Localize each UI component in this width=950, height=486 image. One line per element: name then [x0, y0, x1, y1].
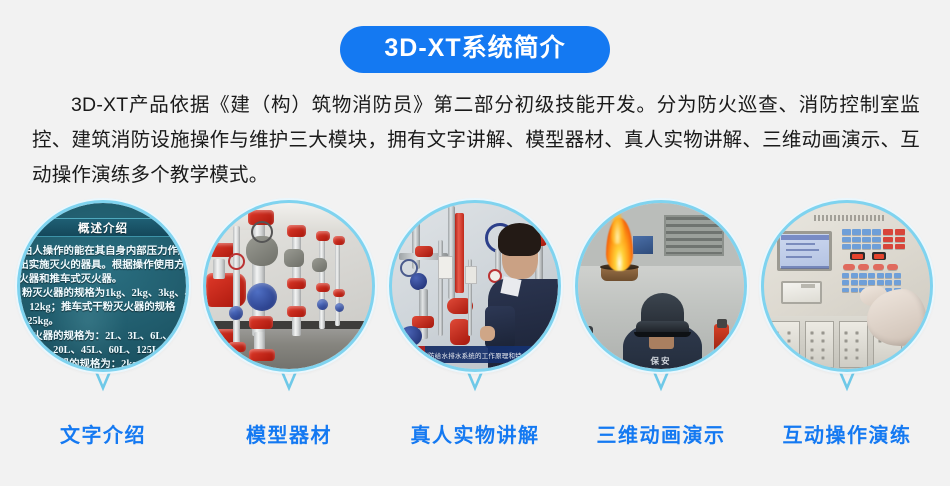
slide-line: 125kg。 [20, 315, 186, 329]
photo-instructor-at-valves: 消防给水排水系统的工作原理和特点 [392, 203, 558, 369]
caption-text-introduction[interactable]: 文字介绍 [14, 422, 192, 462]
grate-icon [664, 215, 724, 257]
caption-3d-animation-demo[interactable]: 三维动画演示 [572, 422, 750, 462]
slide-line: kg、12kg；推车式干粉灭火器的规格 [20, 301, 186, 315]
feature-item-model-equipment[interactable] [200, 200, 378, 400]
seven-segment-display [850, 252, 865, 261]
panel-keypad[interactable] [842, 228, 908, 294]
caption-live-object-explanation[interactable]: 真人实物讲解 [386, 422, 564, 462]
feature-item-3d-animation-demo[interactable]: 保安 [572, 200, 750, 400]
slide-header-label: 概述介绍 [78, 220, 128, 236]
feature-caption-row: 文字介绍 模型器材 真人实物讲解 三维动画演示 互动操作演练 [0, 422, 950, 462]
feature-thumbnail-text-introduction[interactable]: 概述介绍 由人操作的能在其自身内部压力作用下 喷出实施灭火的器具。根据操作使用方… [17, 200, 189, 372]
panel-title-strip [814, 215, 884, 222]
intro-paragraph: 3D-XT产品依据《建（构）筑物消防员》第二部分初级技能开发。分为防火巡查、消防… [32, 88, 920, 193]
hand-cursor-icon [867, 289, 927, 345]
feature-thumbnail-3d-animation-demo[interactable]: 保安 [575, 200, 747, 372]
slide-line: 灭火器的规格为：2kg、 [20, 358, 186, 369]
slide-line: 灭火器的规格为：2L、3L、6L、 [20, 330, 186, 344]
photo-pump-room-pipes [206, 203, 372, 369]
feature-thumbnail-row: 概述介绍 由人操作的能在其自身内部压力作用下 喷出实施灭火的器具。根据操作使用方… [0, 200, 950, 400]
seven-segment-display [872, 252, 887, 261]
slide-body-text: 由人操作的能在其自身内部压力作用下 喷出实施灭火的器具。根据操作使用方 灭火器和… [20, 245, 186, 369]
photo-fire-alarm-panel [764, 203, 930, 369]
fire-extinguisher-icon [714, 324, 729, 352]
video-caption-text: 消防给水排水系统的工作原理和特点 [421, 350, 528, 360]
feature-item-text-introduction[interactable]: 概述介绍 由人操作的能在其自身内部压力作用下 喷出实施灭火的器具。根据操作使用方… [14, 200, 192, 400]
equipment-icon [581, 326, 593, 349]
feature-thumbnail-live-object-explanation[interactable]: 消防给水排水系统的工作原理和特点 [389, 200, 561, 372]
video-caption-bar: 消防给水排水系统的工作原理和特点 [392, 346, 558, 363]
slide-line: 灭火器和推车式灭火器。 [20, 273, 186, 287]
feature-thumbnail-interactive-operation-drill[interactable] [761, 200, 933, 372]
feature-thumbnail-model-equipment[interactable] [203, 200, 375, 372]
caption-interactive-operation-drill[interactable]: 互动操作演练 [758, 422, 936, 462]
header: 3D-XT系统简介 [0, 26, 950, 73]
slide-line: 格为：20L、45L、60L、125L。 [20, 344, 186, 358]
slide-line: 粉灭火器的规格为1kg、2kg、3kg、4 [20, 287, 186, 301]
uniform-back-text: 保安 [578, 355, 744, 367]
feature-item-interactive-operation-drill[interactable] [758, 200, 936, 400]
slide-line: 喷出实施灭火的器具。根据操作使用方 [20, 259, 186, 273]
page-title: 3D-XT系统简介 [340, 26, 609, 73]
3d-scene-fire-drill: 保安 [578, 203, 744, 369]
slide-header-bar: 概述介绍 [30, 218, 176, 237]
page-root: 3D-XT系统简介 3D-XT产品依据《建（构）筑物消防员》第二部分初级技能开发… [0, 0, 950, 486]
feature-item-live-object-explanation[interactable]: 消防给水排水系统的工作原理和特点 [386, 200, 564, 400]
caption-model-equipment[interactable]: 模型器材 [200, 422, 378, 462]
slide-line: 由人操作的能在其自身内部压力作用下 [20, 245, 186, 259]
